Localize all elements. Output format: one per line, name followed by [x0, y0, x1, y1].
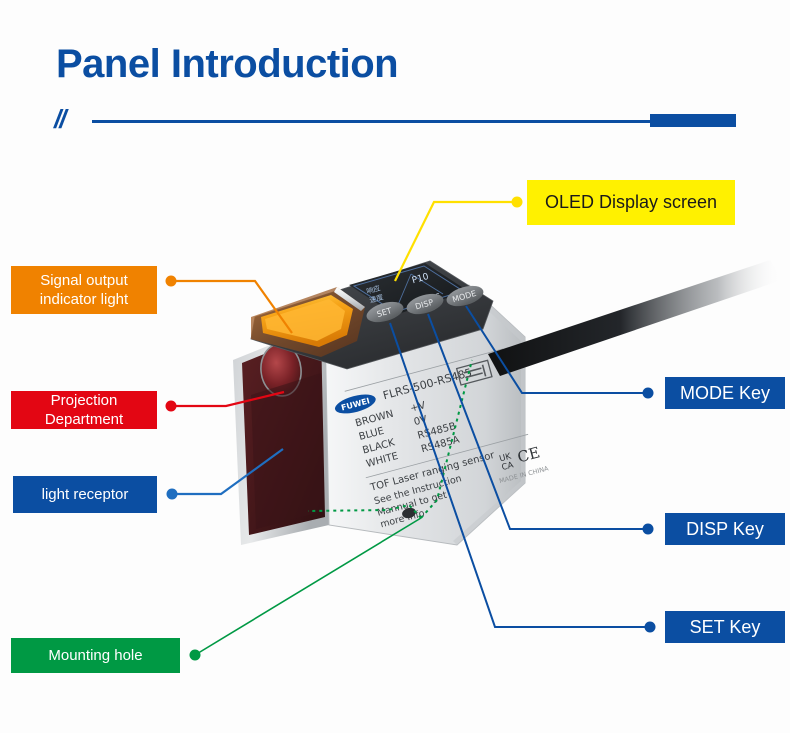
callout-label-text: Signal output indicator light [40, 271, 128, 309]
callout-light-receptor[interactable]: light receptor [13, 476, 157, 513]
header-divider-accent [650, 114, 736, 127]
callout-oled-display-screen[interactable]: OLED Display screen [527, 180, 735, 225]
callout-label-text: SET Key [690, 618, 761, 637]
callout-label-text: MODE Key [680, 384, 770, 403]
header-divider-line [92, 120, 652, 123]
callout-line-2: Department [45, 411, 123, 428]
callout-projection-department[interactable]: Projection Department [11, 391, 157, 429]
callout-line-2: indicator light [40, 291, 128, 308]
sensor-cable [470, 258, 790, 388]
callout-mode-key[interactable]: MODE Key [665, 377, 785, 409]
page-canvas: Panel Introduction // [0, 0, 790, 733]
callout-label-text: Projection Department [45, 391, 123, 429]
callout-mounting-hole[interactable]: Mounting hole [11, 638, 180, 673]
callout-set-key[interactable]: SET Key [665, 611, 785, 643]
callout-label-text: DISP Key [686, 520, 764, 539]
callout-signal-output-indicator-light[interactable]: Signal output indicator light [11, 266, 157, 314]
callout-label-text: light receptor [42, 485, 129, 504]
callout-disp-key[interactable]: DISP Key [665, 513, 785, 545]
callout-line-1: Projection [51, 392, 118, 409]
callout-label-text: OLED Display screen [545, 193, 717, 212]
light-receptor-window [251, 373, 324, 529]
callout-label-text: Mounting hole [48, 646, 142, 665]
slash-decoration: // [54, 104, 64, 135]
callout-line-1: Signal output [40, 272, 128, 289]
page-title: Panel Introduction [56, 42, 398, 87]
